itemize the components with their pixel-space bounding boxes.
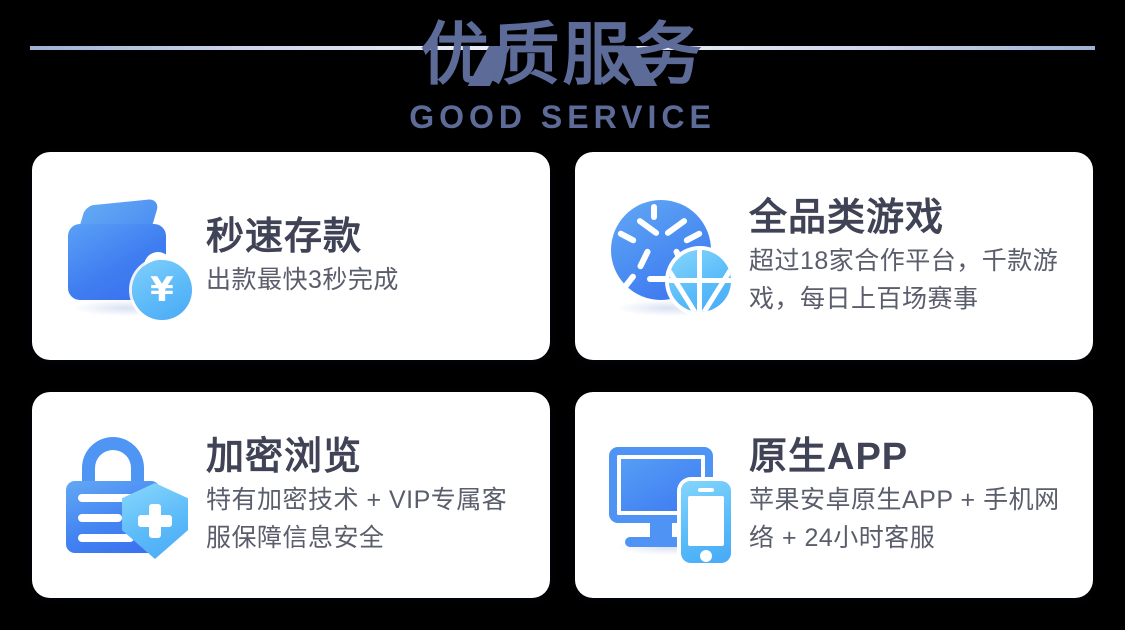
phone-speaker [698, 488, 714, 492]
card-description: 苹果安卓原生APP + 手机网络 + 24小时客服 [749, 481, 1075, 557]
yen-coin-icon: ¥ [132, 260, 192, 320]
card-title: 原生APP [749, 433, 1075, 481]
promo-banner: 优质服务 GOOD SERVICE ¥ 秒速存款 出款最快3秒完成 [0, 0, 1125, 630]
card-title: 全品类游戏 [749, 194, 1075, 242]
page-subtitle: GOOD SERVICE [0, 98, 1125, 136]
soccer-basketball-icon [603, 190, 735, 322]
phone-home-button [700, 550, 712, 562]
card-description: 出款最快3秒完成 [206, 261, 399, 299]
card-description: 特有加密技术 + VIP专属客服保障信息安全 [206, 481, 532, 557]
monitor-phone-icon [603, 429, 735, 561]
lock-shield-icon [60, 429, 192, 561]
card-title: 加密浏览 [206, 433, 532, 481]
feature-card-native-app[interactable]: 原生APP 苹果安卓原生APP + 手机网络 + 24小时客服 [575, 392, 1093, 598]
phone-screen [688, 496, 724, 546]
card-text-block: 秒速存款 出款最快3秒完成 [206, 213, 399, 299]
card-text-block: 加密浏览 特有加密技术 + VIP专属客服保障信息安全 [206, 433, 532, 557]
yen-symbol: ¥ [150, 273, 174, 307]
feature-card-games[interactable]: 全品类游戏 超过18家合作平台，千款游戏，每日上百场赛事 [575, 152, 1093, 360]
phone-shape [681, 481, 731, 563]
feature-card-deposit[interactable]: ¥ 秒速存款 出款最快3秒完成 [32, 152, 550, 360]
card-description: 超过18家合作平台，千款游戏，每日上百场赛事 [749, 242, 1075, 318]
card-text-block: 原生APP 苹果安卓原生APP + 手机网络 + 24小时客服 [749, 433, 1075, 557]
banner-header: 优质服务 GOOD SERVICE [0, 0, 1125, 152]
basketball-shape [669, 250, 731, 312]
card-title: 秒速存款 [206, 213, 399, 261]
page-title: 优质服务 [0, 12, 1125, 98]
wallet-yen-icon: ¥ [60, 190, 192, 322]
feature-card-grid: ¥ 秒速存款 出款最快3秒完成 [32, 152, 1093, 598]
card-text-block: 全品类游戏 超过18家合作平台，千款游戏，每日上百场赛事 [749, 194, 1075, 318]
feature-card-encryption[interactable]: 加密浏览 特有加密技术 + VIP专属客服保障信息安全 [32, 392, 550, 598]
plus-horizontal [138, 515, 172, 527]
